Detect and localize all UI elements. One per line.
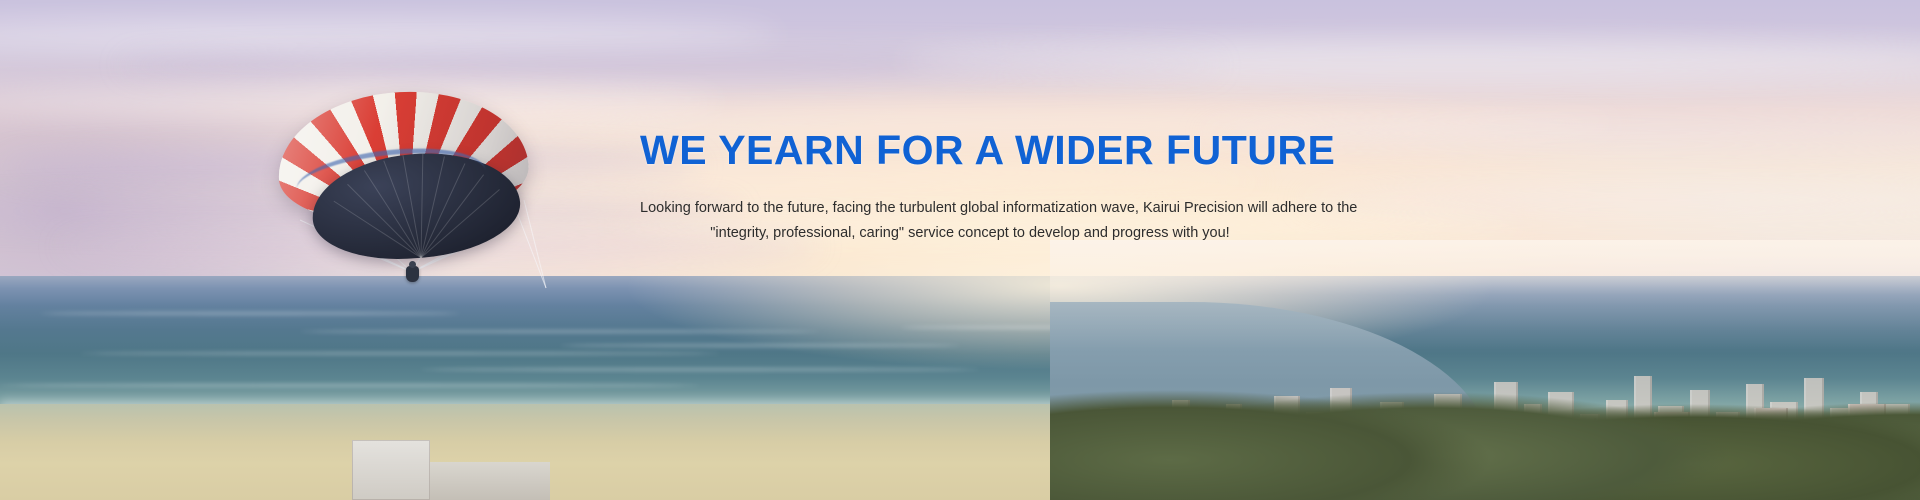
- page-title: WE YEARN FOR A WIDER FUTURE: [640, 128, 1300, 172]
- parasailer-figure: [406, 266, 419, 282]
- beach-building: [430, 462, 550, 500]
- wave-line: [80, 352, 720, 355]
- hero-text-block: WE YEARN FOR A WIDER FUTURE Looking forw…: [640, 128, 1300, 245]
- vegetation-foreground: [1050, 390, 1920, 500]
- coastal-cityscape: [1050, 240, 1920, 500]
- beach-building: [352, 440, 430, 500]
- parasail: [278, 92, 548, 292]
- subtitle-line-1: Looking forward to the future, facing th…: [640, 196, 1300, 220]
- wave-line: [300, 330, 820, 333]
- wave-line: [40, 312, 460, 315]
- atmospheric-haze: [1050, 240, 1920, 350]
- wave-line: [560, 344, 960, 347]
- wave-line: [420, 368, 980, 371]
- subtitle-group: Looking forward to the future, facing th…: [640, 196, 1300, 245]
- hero-banner: WE YEARN FOR A WIDER FUTURE Looking forw…: [0, 0, 1920, 500]
- wave-line: [0, 384, 700, 387]
